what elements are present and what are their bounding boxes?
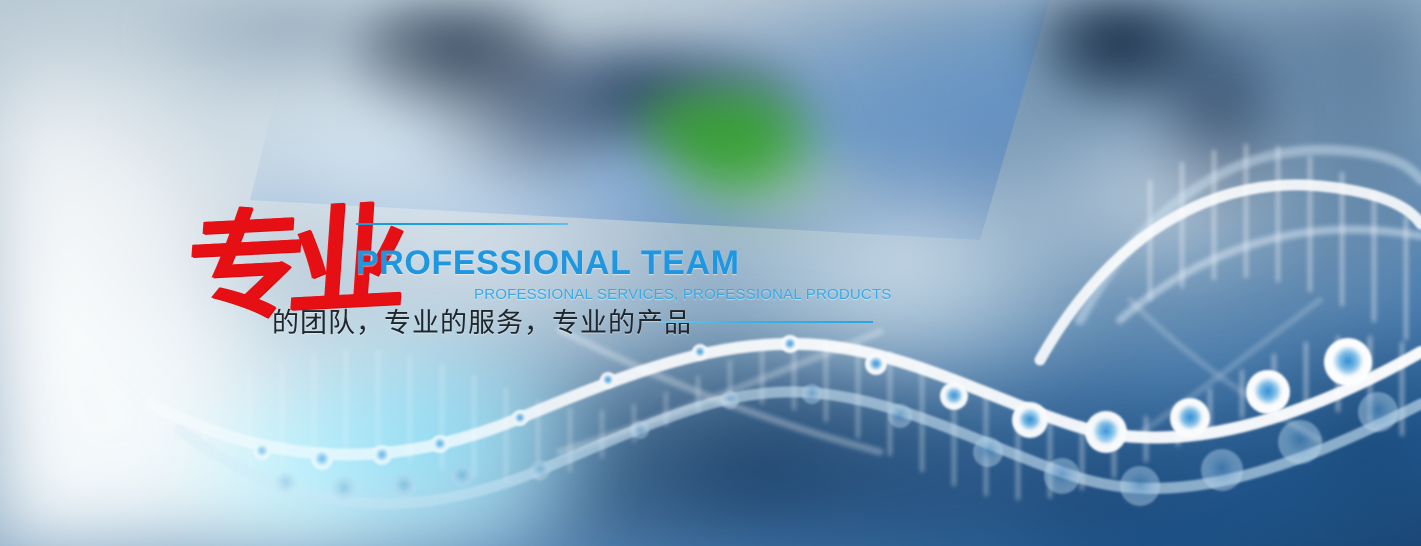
- banner-copy: 专业 PROFESSIONAL TEAM PROFESSIONAL SERVIC…: [0, 0, 1421, 546]
- divider-bottom: [660, 321, 873, 323]
- headline-professional-team: PROFESSIONAL TEAM: [356, 244, 740, 282]
- subheadline-services-products: PROFESSIONAL SERVICES, PROFESSIONAL PROD…: [474, 286, 892, 304]
- hero-banner: 专业 PROFESSIONAL TEAM PROFESSIONAL SERVIC…: [0, 0, 1421, 546]
- divider-top: [356, 223, 568, 225]
- chinese-slogan: 的团队，专业的服务，专业的产品: [272, 307, 692, 341]
